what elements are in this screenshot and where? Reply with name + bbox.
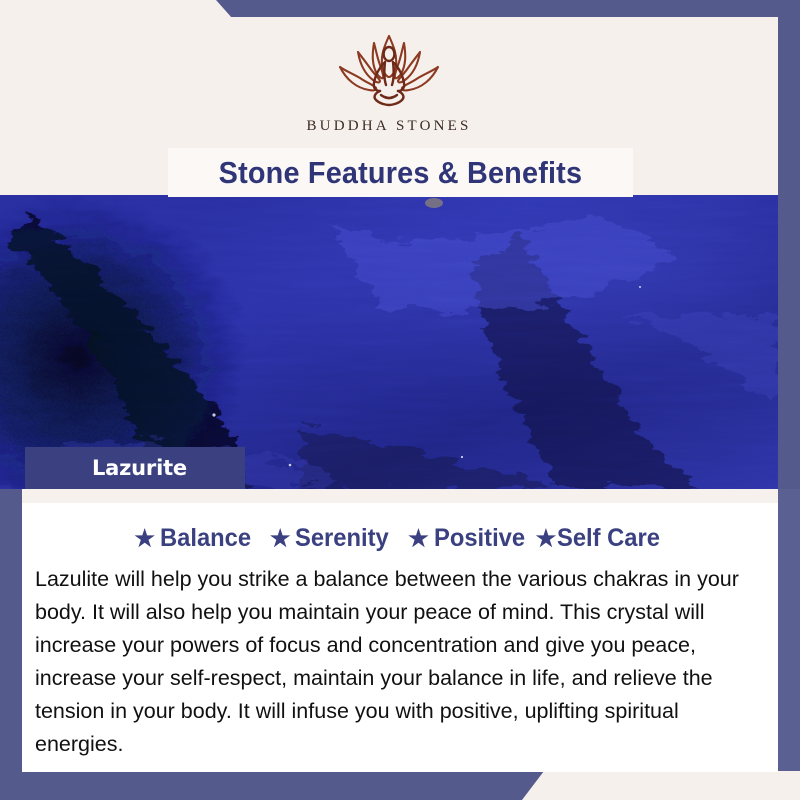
benefit-item-serenity: ★ Serenity [270, 524, 394, 553]
frame-left-lower-bar [0, 489, 22, 779]
frame-top-left-notch [0, 0, 232, 18]
benefit-label: Balance [160, 524, 251, 553]
frame-bottom-right-notch [500, 771, 800, 800]
title-plate: Stone Features & Benefits [168, 148, 633, 197]
stone-texture-image [0, 195, 778, 489]
panel-top-tint [22, 489, 778, 503]
benefit-label: Serenity [295, 524, 389, 553]
brand-name: BUDDHA STONES [306, 118, 471, 135]
star-icon: ★ [270, 527, 291, 550]
description-panel: ★ Balance ★ Serenity ★ Positive ★ Self C… [22, 489, 778, 772]
benefit-item-balance: ★ Balance [134, 524, 256, 553]
benefit-label: Self Care [557, 524, 660, 553]
infographic-card: BUDDHA STONES Stone Features & Benefits [0, 0, 800, 800]
benefit-item-self-care: ★ Self Care [536, 524, 666, 553]
benefit-label: Positive [434, 524, 525, 553]
page-title: Stone Features & Benefits [219, 155, 583, 191]
benefit-item-positive: ★ Positive [408, 524, 530, 553]
brand-logo: BUDDHA STONES [0, 27, 778, 135]
benefits-row: ★ Balance ★ Serenity ★ Positive ★ Self C… [22, 524, 778, 553]
star-icon: ★ [536, 527, 557, 550]
stone-name-label: Lazurite [92, 456, 187, 480]
star-icon: ★ [408, 527, 429, 550]
lotus-meditation-icon [327, 27, 451, 115]
stone-photo [0, 195, 778, 489]
star-icon: ★ [134, 527, 155, 550]
description-text: Lazulite will help you strike a balance … [35, 563, 753, 761]
stone-name-banner: Lazurite [25, 447, 245, 489]
